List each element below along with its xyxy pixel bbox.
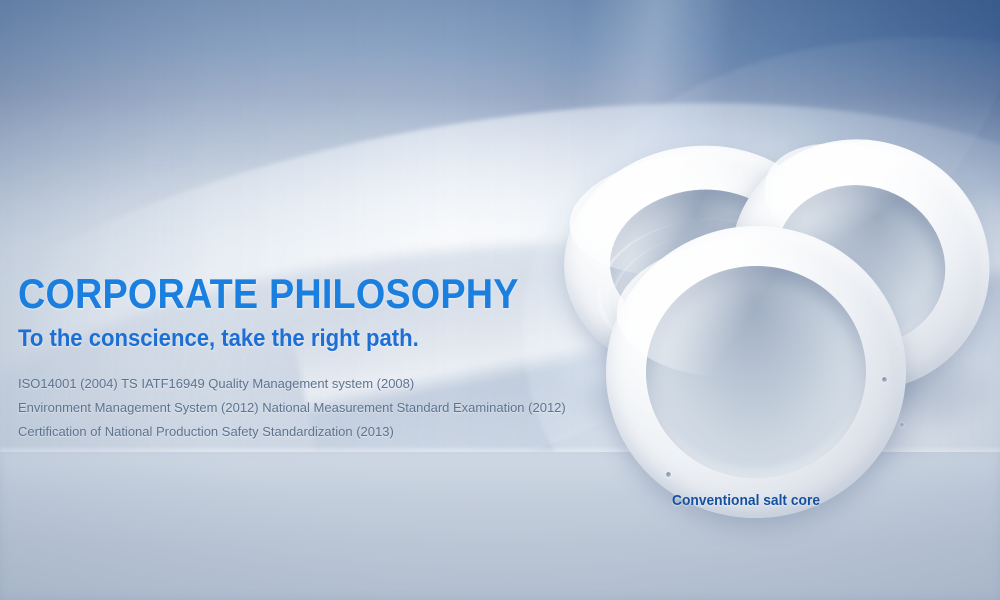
product-caption: Conventional salt core [672,492,820,509]
credentials-line: Environment Management System (2012) Nat… [18,396,618,420]
ring-vent-pinhole [666,472,671,477]
page-title: CORPORATE PHILOSOPHY [18,272,558,316]
credentials-list: ISO14001 (2004) TS IATF16949 Quality Man… [18,372,618,444]
credentials-line: ISO14001 (2004) TS IATF16949 Quality Man… [18,372,618,396]
ring-vent-pinhole [900,423,904,427]
page-subtitle: To the conscience, take the right path. [18,326,570,352]
headline-block: CORPORATE PHILOSOPHY To the conscience, … [18,272,618,444]
ring-vent-pinhole [882,377,887,382]
corporate-philosophy-banner: CORPORATE PHILOSOPHY To the conscience, … [0,0,1000,600]
ring-inner-hole [641,260,872,483]
salt-core-rings-photo [560,140,1000,470]
credentials-line: Certification of National Production Saf… [18,420,618,444]
